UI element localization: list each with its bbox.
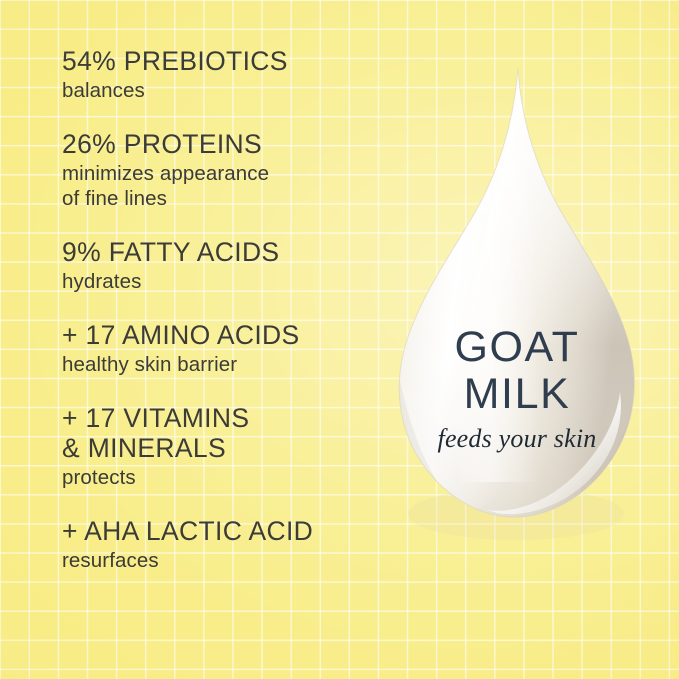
infographic-poster: 54% PREBIOTICS balances 26% PROTEINS min… [0,0,679,679]
ingredient-item-prebiotics: 54% PREBIOTICS balances [62,46,392,103]
ingredient-title: + 17 VITAMINS & MINERALS [62,403,392,463]
ingredient-item-vitamins-minerals: + 17 VITAMINS & MINERALS protects [62,403,392,490]
ingredient-item-aha-lactic-acid: + AHA LACTIC ACID resurfaces [62,516,392,573]
milk-droplet-graphic: GOAT MILK feeds your skin [388,62,646,552]
ingredient-item-fatty-acids: 9% FATTY ACIDS hydrates [62,237,392,294]
ingredient-item-amino-acids: + 17 AMINO ACIDS healthy skin barrier [62,320,392,377]
ingredient-title: 54% PREBIOTICS [62,46,392,76]
ingredient-description: protects [62,465,392,490]
ingredient-title: 9% FATTY ACIDS [62,237,392,267]
ingredient-description: hydrates [62,269,392,294]
ingredient-title: 26% PROTEINS [62,129,392,159]
droplet-rim-glow [372,330,528,514]
ingredient-description: healthy skin barrier [62,352,392,377]
ingredient-list: 54% PREBIOTICS balances 26% PROTEINS min… [62,46,392,573]
ingredient-item-proteins: 26% PROTEINS minimizes appearance of fin… [62,129,392,211]
ingredient-title: + AHA LACTIC ACID [62,516,392,546]
milk-droplet-icon [388,62,646,552]
ingredient-title: + 17 AMINO ACIDS [62,320,392,350]
ingredient-description: resurfaces [62,548,392,573]
ingredient-description: balances [62,78,392,103]
ingredient-description: minimizes appearance of fine lines [62,161,392,211]
